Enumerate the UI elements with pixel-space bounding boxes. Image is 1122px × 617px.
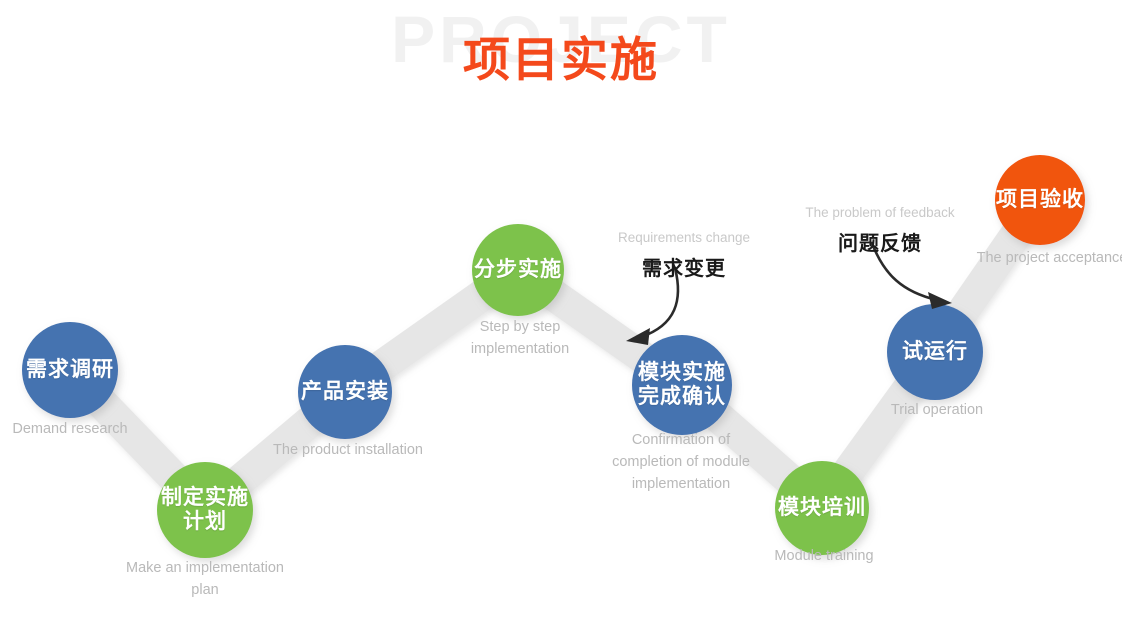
node-circle-2[interactable] xyxy=(157,462,253,558)
node-circle-1[interactable] xyxy=(22,322,118,418)
node-caption-4: Step by step implementation xyxy=(410,317,630,361)
slide-canvas: PROJECT 项目实施 需求调研Demand research制定实施 计划M… xyxy=(0,0,1122,617)
node-caption-5: Confirmation of completion of module imp… xyxy=(561,430,801,495)
anno-problem-feedback-cn: 问题反馈 xyxy=(730,227,1030,256)
node-caption-1: Demand research xyxy=(0,419,180,441)
node-circle-7[interactable] xyxy=(887,304,983,400)
node-circle-5[interactable] xyxy=(632,335,732,435)
node-caption-7: Trial operation xyxy=(827,400,1047,422)
node-caption-2: Make an implementation plan xyxy=(75,558,335,602)
node-caption-6: Module training xyxy=(714,546,934,568)
anno-problem-feedback-en: The problem of feedback xyxy=(730,205,1030,220)
anno-requirements-change-cn: 需求变更 xyxy=(534,252,834,281)
node-caption-3: The product installation xyxy=(218,440,478,462)
node-circle-3[interactable] xyxy=(298,345,392,439)
process-flow-diagram xyxy=(0,0,1122,617)
